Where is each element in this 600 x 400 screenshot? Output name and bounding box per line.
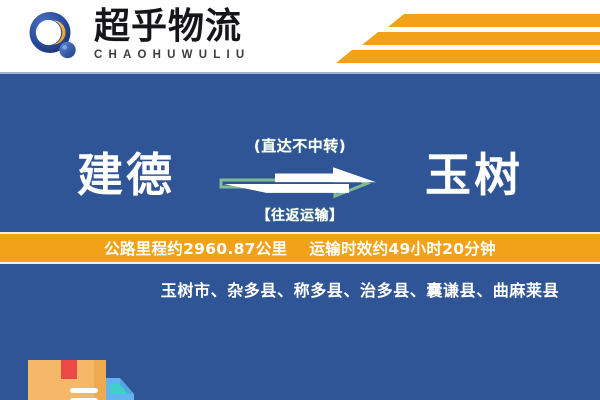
coverage-row: 玉树市、杂多县、称多县、治多县、囊谦县、曲麻莱县 xyxy=(0,272,600,306)
banner-header: 超乎物流 CHAOHUWULIU xyxy=(0,0,600,70)
speed-stripes-icon xyxy=(362,32,600,45)
route-middle-block: (直达不中转) 【往返运输】 xyxy=(210,136,390,225)
coverage-areas-label: 玉树市、杂多县、称多县、治多县、囊谦县、曲麻莱县 xyxy=(161,277,559,301)
brand-block: 超乎物流 CHAOHUWULIU xyxy=(94,7,294,62)
duration-label: 运输时效约49小时20分钟 xyxy=(309,237,496,259)
logistics-route-banner: 超乎物流 CHAOHUWULIU 建德 (直达不中转) xyxy=(0,0,600,400)
destination-city-label: 玉树 xyxy=(374,148,574,202)
speed-stripes-icon xyxy=(336,50,600,63)
speed-stripes-icon xyxy=(388,14,600,27)
roundtrip-service-note: 【往返运输】 xyxy=(210,207,390,225)
delivery-truck-icon xyxy=(18,344,146,400)
bidirectional-arrow-icon xyxy=(210,166,390,200)
direct-service-note: (直达不中转) xyxy=(210,136,390,156)
circle-q-logo-icon xyxy=(26,9,82,65)
brand-name-cn: 超乎物流 xyxy=(94,7,294,47)
brand-name-en: CHAOHUWULIU xyxy=(94,48,294,62)
info-bar-top-divider xyxy=(0,232,600,234)
distance-label: 公路里程约2960.87公里 xyxy=(104,237,287,259)
info-bar-bottom-divider xyxy=(0,262,600,264)
panel-top-divider xyxy=(0,72,600,74)
route-info-bar: 公路里程约2960.87公里 运输时效约49小时20分钟 xyxy=(0,232,600,264)
origin-city-label: 建德 xyxy=(26,148,226,202)
main-panel: 建德 (直达不中转) xyxy=(0,72,600,400)
